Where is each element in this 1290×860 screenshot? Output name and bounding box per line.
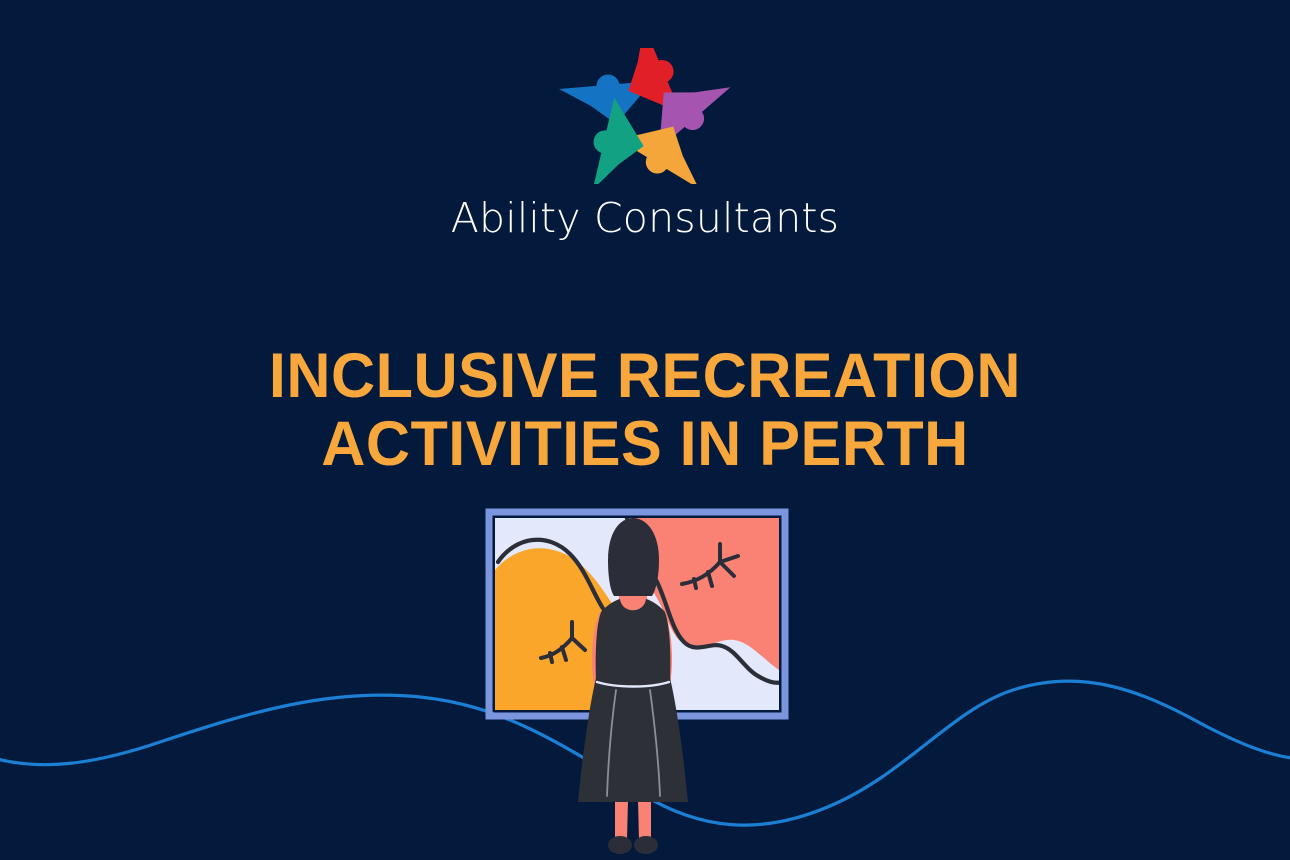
brand-name: Ability Consultants xyxy=(0,198,1290,239)
woman-dress-skirt xyxy=(578,678,688,802)
poster-canvas: Ability Consultants Inclusive Recreation… xyxy=(0,0,1290,860)
page-title-line-1: Inclusive Recreation xyxy=(19,342,1270,410)
ability-consultants-logo-icon xyxy=(550,48,740,184)
woman-leg-right xyxy=(638,800,651,840)
woman-hair xyxy=(608,518,659,596)
page-title: Inclusive Recreation Activities in Perth xyxy=(19,342,1270,478)
woman-leg-left xyxy=(615,800,628,840)
woman-shoe-right xyxy=(634,836,658,854)
illustration-woman-viewing-painting xyxy=(472,500,822,860)
brand-block: Ability Consultants xyxy=(0,48,1290,239)
woman-shoe-left xyxy=(608,836,632,854)
page-title-line-2: Activities in Perth xyxy=(19,410,1270,478)
woman-dress-bodice xyxy=(596,599,671,682)
